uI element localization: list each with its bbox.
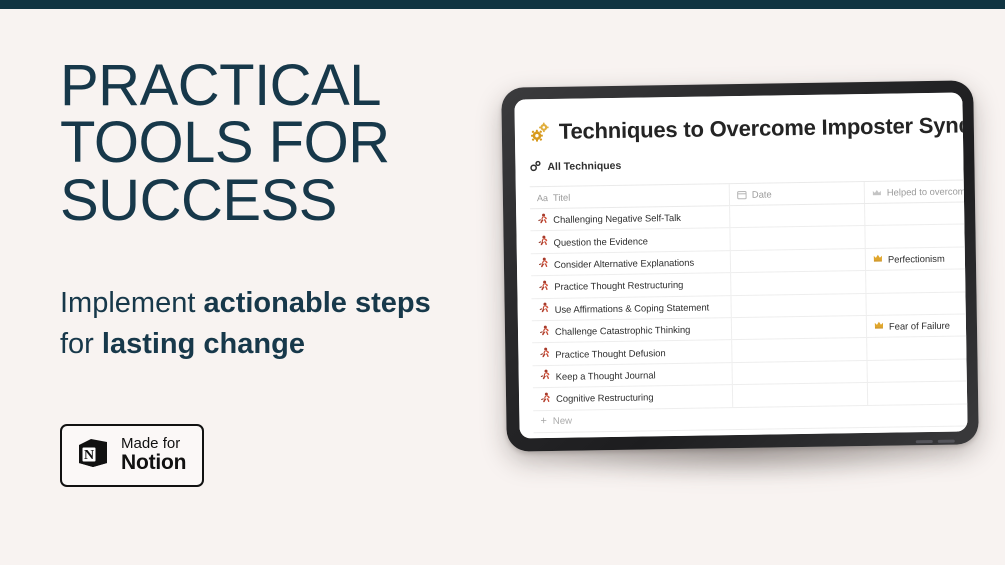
crown-emoji bbox=[873, 253, 883, 266]
notion-view-bar: All Techniques bbox=[529, 147, 967, 178]
text-property-icon: Aa bbox=[537, 193, 548, 203]
tablet-speaker-grill-left bbox=[916, 440, 933, 443]
cell-date[interactable] bbox=[730, 204, 865, 228]
tablet-screen: Techniques to Overcome Imposter Syndr Al… bbox=[514, 92, 967, 438]
subheadline-strong-2: lasting change bbox=[102, 328, 305, 360]
column-header-title[interactable]: Aa Titel bbox=[530, 184, 730, 208]
column-header-helped-to-overcome[interactable]: Helped to overcome Th bbox=[865, 178, 968, 203]
notion-badge-text: Made for Notion bbox=[121, 436, 186, 473]
cell-helped-to-overcome[interactable] bbox=[865, 222, 967, 248]
cell-date[interactable] bbox=[732, 338, 867, 362]
notion-page: Techniques to Overcome Imposter Syndr Al… bbox=[514, 92, 967, 438]
badge-line-1: Made for bbox=[121, 436, 186, 452]
cell-helped-to-overcome[interactable] bbox=[868, 379, 968, 405]
cell-title[interactable]: Consider Alternative Explanations bbox=[531, 251, 731, 276]
badge-line-2: Notion bbox=[121, 452, 186, 474]
headline-line-1: PRACTICAL bbox=[60, 57, 460, 114]
cell-title[interactable]: Practice Thought Restructuring bbox=[531, 273, 731, 298]
cell-title-text: Question the Evidence bbox=[554, 235, 649, 247]
svg-text:N: N bbox=[84, 448, 94, 463]
cell-title-text: Cognitive Restructuring bbox=[556, 392, 654, 405]
column-header-title-label: Titel bbox=[553, 192, 571, 203]
cell-title[interactable]: Question the Evidence bbox=[530, 229, 730, 254]
cell-date[interactable] bbox=[731, 249, 866, 273]
cell-date[interactable] bbox=[733, 383, 868, 407]
new-row-label: New bbox=[553, 415, 572, 426]
subheadline-line-2: for lasting change bbox=[60, 324, 490, 365]
made-for-notion-badge: N Made for Notion bbox=[60, 424, 204, 487]
subheadline-plain-2: for bbox=[60, 328, 102, 360]
cell-title[interactable]: Practice Thought Defusion bbox=[532, 340, 732, 365]
cell-helped-to-overcome[interactable]: Perfectionism bbox=[866, 245, 968, 271]
cell-date[interactable] bbox=[732, 316, 867, 340]
dancer-emoji bbox=[538, 280, 549, 294]
dancer-emoji bbox=[537, 235, 548, 249]
cell-title-text: Keep a Thought Journal bbox=[556, 369, 656, 382]
cell-date[interactable] bbox=[731, 294, 866, 318]
subheadline-line-1: Implement actionable steps bbox=[60, 283, 490, 324]
dancer-emoji bbox=[540, 392, 551, 406]
notion-cube-icon: N bbox=[76, 436, 110, 475]
dancer-emoji bbox=[537, 213, 548, 227]
cell-date[interactable] bbox=[730, 226, 865, 250]
cell-helped-to-overcome[interactable] bbox=[867, 334, 967, 360]
headline-line-3: SUCCESS bbox=[60, 172, 460, 229]
plus-icon: + bbox=[540, 416, 547, 427]
promo-panel: PRACTICAL TOOLS FOR SUCCESS Implement ac… bbox=[0, 9, 490, 565]
gears-icon bbox=[529, 121, 551, 143]
date-property-icon bbox=[737, 189, 747, 199]
cell-title-text: Challenging Negative Self-Talk bbox=[553, 212, 681, 225]
cell-helped-to-overcome[interactable]: Fear of Failure bbox=[867, 312, 968, 338]
notion-page-header: Techniques to Overcome Imposter Syndr bbox=[528, 92, 967, 145]
cell-helped-text: Perfectionism bbox=[888, 253, 945, 265]
cell-helped-to-overcome[interactable] bbox=[866, 267, 968, 293]
crown-emoji bbox=[874, 320, 884, 333]
dancer-emoji bbox=[538, 257, 549, 271]
dancer-emoji bbox=[539, 302, 550, 316]
cell-title-text: Use Affirmations & Coping Statement bbox=[555, 301, 710, 314]
cell-title[interactable]: Challenging Negative Self-Talk bbox=[530, 206, 730, 231]
column-header-helped-label: Helped to overcome Th bbox=[887, 185, 968, 198]
dancer-emoji bbox=[539, 347, 550, 361]
view-tab-all-techniques[interactable]: All Techniques bbox=[529, 158, 621, 174]
cell-title[interactable]: Challenge Catastrophic Thinking bbox=[532, 318, 732, 343]
cell-helped-to-overcome[interactable] bbox=[868, 357, 968, 383]
tablet-mockup: Techniques to Overcome Imposter Syndr Al… bbox=[501, 80, 979, 451]
cell-title[interactable]: Cognitive Restructuring bbox=[533, 385, 733, 410]
cell-helped-to-overcome[interactable] bbox=[866, 289, 967, 315]
dancer-emoji bbox=[540, 369, 551, 383]
top-accent-bar bbox=[0, 0, 1005, 9]
cell-helped-text: Fear of Failure bbox=[889, 320, 950, 332]
column-header-date-label: Date bbox=[752, 188, 772, 199]
cell-title-text: Challenge Catastrophic Thinking bbox=[555, 324, 690, 337]
headline-line-2: TOOLS FOR bbox=[60, 114, 460, 171]
subheadline-plain-1: Implement bbox=[60, 287, 203, 319]
gears-small-icon bbox=[529, 160, 541, 175]
notion-title: Techniques to Overcome Imposter Syndr bbox=[559, 112, 968, 145]
subheadline: Implement actionable steps for lasting c… bbox=[60, 283, 490, 365]
tablet-frame: Techniques to Overcome Imposter Syndr Al… bbox=[501, 80, 979, 451]
subheadline-strong-1: actionable steps bbox=[203, 287, 430, 319]
cell-helped-to-overcome[interactable] bbox=[865, 200, 968, 226]
crown-property-icon bbox=[872, 187, 882, 197]
column-header-date[interactable]: Date bbox=[730, 182, 865, 205]
cell-title-text: Practice Thought Restructuring bbox=[554, 279, 683, 292]
cell-title[interactable]: Keep a Thought Journal bbox=[533, 363, 733, 388]
cell-title-text: Consider Alternative Explanations bbox=[554, 257, 694, 270]
notion-database-table: Aa Titel Date bbox=[530, 177, 968, 433]
cell-title[interactable]: Use Affirmations & Coping Statement bbox=[531, 296, 731, 321]
view-tab-label: All Techniques bbox=[547, 160, 621, 173]
tablet-speaker-grill-right bbox=[938, 440, 955, 443]
cell-title-text: Practice Thought Defusion bbox=[555, 347, 665, 360]
cell-date[interactable] bbox=[731, 271, 866, 295]
dancer-emoji bbox=[539, 325, 550, 339]
page-title: PRACTICAL TOOLS FOR SUCCESS bbox=[60, 57, 460, 229]
table-body: Challenging Negative Self-TalkQuestion t… bbox=[530, 200, 968, 411]
cell-date[interactable] bbox=[733, 361, 868, 385]
